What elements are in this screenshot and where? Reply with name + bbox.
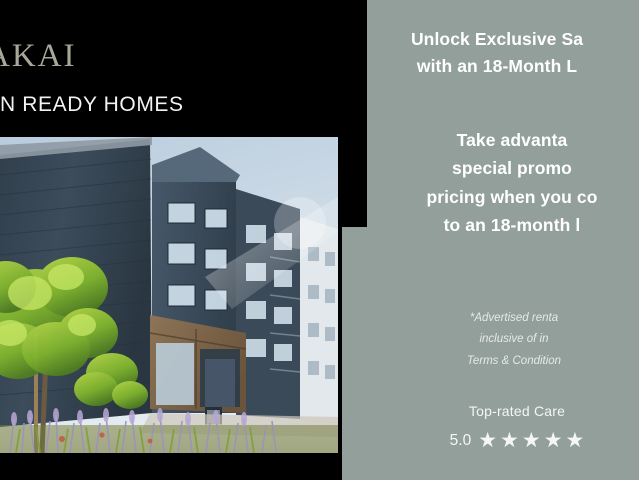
headline-line-1: Unlock Exclusive Sa	[297, 26, 639, 53]
body-line-2: special promo	[297, 154, 639, 182]
headline-line-2: with an 18-Month L	[297, 53, 639, 80]
star-icon-5: ★	[566, 430, 585, 451]
photo-illustration: WEST	[0, 137, 338, 453]
rating-title: Top-rated Care	[337, 404, 639, 418]
brand-tagline: -IN READY HOMES	[0, 94, 340, 115]
disclaimer-line-3: Terms & Condition	[319, 351, 639, 372]
apartment-building-exterior-photo: WEST	[0, 137, 338, 453]
brand-logo: AKAI	[0, 40, 340, 73]
promo-headline: Unlock Exclusive Sa with an 18-Month L	[297, 26, 639, 80]
promo-content-column: Unlock Exclusive Sa with an 18-Month L T…	[367, 0, 639, 480]
star-rating: ★ ★ ★ ★ ★	[478, 430, 584, 451]
body-line-1: Take advanta	[297, 126, 639, 154]
brand-lockup: AKAI -IN READY HOMES	[0, 40, 340, 115]
rating-score: 5.0	[450, 433, 472, 449]
star-icon-4: ★	[544, 430, 563, 451]
star-icon-1: ★	[478, 430, 497, 451]
body-line-3: pricing when you co	[297, 183, 639, 211]
body-line-4: to an 18-month l	[297, 211, 639, 239]
star-icon-3: ★	[522, 430, 541, 451]
rating-stars-row: 5.0 ★ ★ ★ ★ ★	[337, 430, 639, 451]
promo-disclaimer: *Advertised renta inclusive of in Terms …	[319, 308, 639, 372]
promo-body-copy: Take advanta special promo pricing when …	[297, 126, 639, 239]
promo-slide: AKAI -IN READY HOMES	[0, 0, 639, 480]
disclaimer-line-2: inclusive of in	[319, 329, 639, 350]
star-icon-2: ★	[500, 430, 519, 451]
rating-block: Top-rated Care 5.0 ★ ★ ★ ★ ★	[337, 404, 639, 451]
disclaimer-line-1: *Advertised renta	[319, 308, 639, 329]
